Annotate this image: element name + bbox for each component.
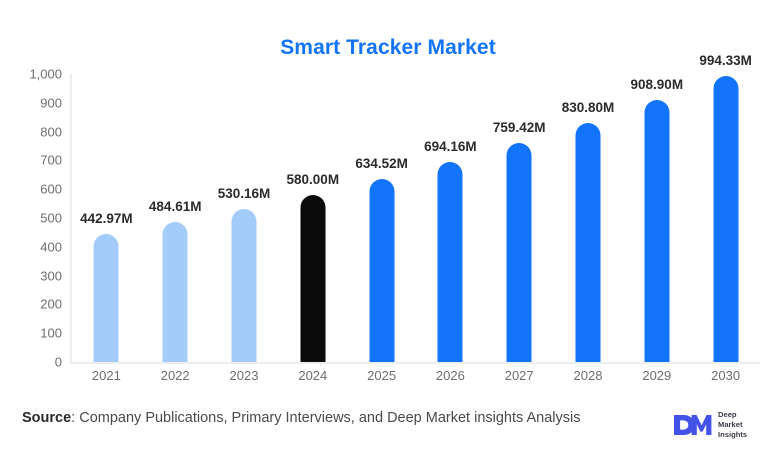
logo-line-2: Market: [718, 420, 747, 430]
deep-market-insights-logo: Deep Market Insights: [672, 404, 768, 446]
source-label: Source: [22, 410, 71, 426]
y-axis-tick: 400: [0, 239, 62, 254]
y-axis-tick: 800: [0, 124, 62, 139]
x-axis-tick-2021: 2021: [92, 368, 121, 383]
x-axis-tick-2027: 2027: [505, 368, 534, 383]
x-axis-tick-2023: 2023: [230, 368, 259, 383]
bar-2025[interactable]: [369, 179, 394, 362]
x-axis-tick-2024: 2024: [298, 368, 327, 383]
bar-value-label-2030: 994.33M: [699, 53, 752, 68]
bar-value-label-2028: 830.80M: [562, 100, 615, 115]
bar-series: 442.97M484.61M530.16M580.00M634.52M694.1…: [72, 74, 760, 362]
chart-footer: Source: Company Publications, Primary In…: [0, 404, 776, 450]
x-axis-tick-2030: 2030: [711, 368, 740, 383]
x-axis-tick-2022: 2022: [161, 368, 190, 383]
x-axis-tick-2025: 2025: [367, 368, 396, 383]
bar-value-label-2022: 484.61M: [149, 199, 202, 214]
y-axis-tick: 200: [0, 297, 62, 312]
y-axis-tick: 1,000: [0, 67, 62, 82]
chart-title: Smart Tracker Market: [0, 36, 776, 60]
x-axis: 2021202220232024202520262027202820292030: [72, 368, 760, 392]
bar-2026[interactable]: [438, 162, 463, 362]
bar-value-label-2023: 530.16M: [218, 186, 271, 201]
bar-2027[interactable]: [507, 143, 532, 362]
y-axis-tick: 300: [0, 268, 62, 283]
x-axis-tick-2028: 2028: [574, 368, 603, 383]
logo-line-1: Deep: [718, 410, 747, 420]
logo-line-3: Insights: [718, 430, 747, 440]
x-axis-tick-2026: 2026: [436, 368, 465, 383]
bar-value-label-2026: 694.16M: [424, 139, 477, 154]
source-note: Source: Company Publications, Primary In…: [22, 410, 581, 426]
bar-2023[interactable]: [232, 209, 257, 362]
y-axis: 01002003004005006007008009001,000: [0, 74, 62, 362]
source-detail: : Company Publications, Primary Intervie…: [71, 410, 580, 426]
chart-page: Smart Tracker Market 0100200300400500600…: [0, 0, 776, 472]
y-axis-tick: 600: [0, 182, 62, 197]
bar-value-label-2027: 759.42M: [493, 120, 546, 135]
bar-2021[interactable]: [94, 234, 119, 362]
y-axis-tick: 500: [0, 211, 62, 226]
bar-value-label-2021: 442.97M: [80, 211, 133, 226]
logo-wordmark: Deep Market Insights: [718, 410, 747, 440]
bar-2028[interactable]: [576, 123, 601, 362]
bar-2029[interactable]: [644, 100, 669, 362]
bar-2022[interactable]: [163, 222, 188, 362]
bar-value-label-2025: 634.52M: [355, 156, 408, 171]
bar-2024[interactable]: [300, 195, 325, 362]
y-axis-tick: 0: [0, 355, 62, 370]
bar-value-label-2024: 580.00M: [287, 172, 340, 187]
y-axis-tick: 700: [0, 153, 62, 168]
x-axis-tick-2029: 2029: [642, 368, 671, 383]
y-axis-tick: 900: [0, 95, 62, 110]
bar-value-label-2029: 908.90M: [631, 77, 684, 92]
dm-monogram-icon: [672, 413, 712, 437]
bar-2030[interactable]: [713, 76, 738, 362]
y-axis-tick: 100: [0, 326, 62, 341]
